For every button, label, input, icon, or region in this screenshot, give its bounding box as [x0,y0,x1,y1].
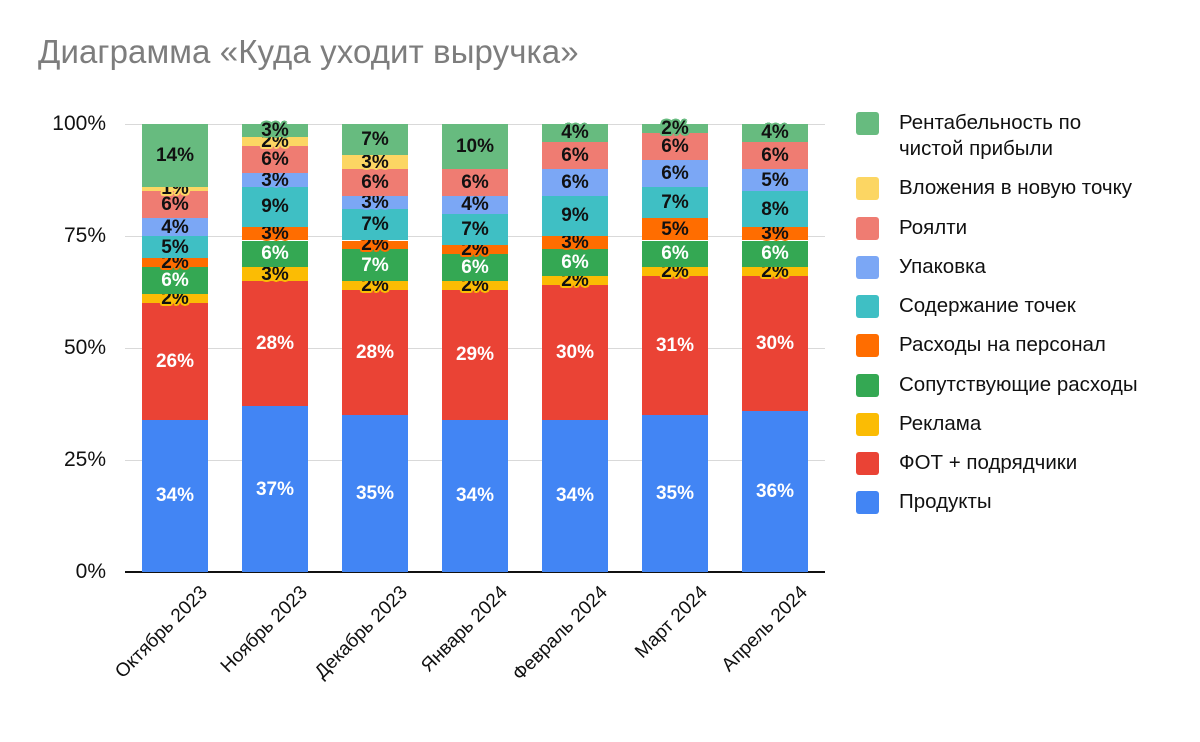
bar-segment-value-label: 6% [661,137,688,156]
bar-segment-value-label: 4% [461,195,488,214]
bar-segment[interactable]: 5% [142,236,208,258]
bar-segment-value-label: 34% [156,486,194,505]
bar-segment[interactable]: 30% [542,285,608,419]
legend-color-swatch [856,256,879,279]
bar-segment-value-label: 14% [156,146,194,165]
legend-label: Упаковка [899,254,986,280]
bar-segment[interactable]: 10% [442,124,508,169]
page-title: Диаграмма «Куда уходит выручка» [38,33,579,71]
legend-label: Роялти [899,215,967,241]
bar-segment-value-label: 4% [761,123,788,142]
legend-color-swatch [856,413,879,436]
bar-segment[interactable]: 3% [742,227,808,240]
bar-segment[interactable]: 2% [142,294,208,303]
legend-label: Вложения в новую точку [899,175,1132,201]
bar-segment-value-label: 6% [561,146,588,165]
chart-container: Диаграмма «Куда уходит выручка» 0%25%50%… [0,0,1200,742]
bar-segment[interactable]: 3% [242,267,308,280]
bar-segment[interactable]: 6% [242,241,308,268]
bar-segment[interactable]: 5% [642,218,708,240]
legend: Рентабельность по чистой прибылиВложения… [856,110,1196,529]
y-axis-tick-label: 100% [52,112,106,136]
legend-color-swatch [856,374,879,397]
legend-item[interactable]: Сопутствующие расходы [856,372,1196,398]
bar-segment[interactable]: 6% [542,249,608,276]
bar-segment[interactable]: 6% [642,241,708,268]
bar-segment[interactable]: 31% [642,276,708,415]
bar-segment-value-label: 6% [661,244,688,263]
bar-stack: 34%26%2%6%2%5%4%6%1%14% [142,124,208,572]
bar-segment[interactable]: 3% [342,196,408,209]
bar-segment[interactable]: 3% [242,124,308,137]
bar-segment-value-label: 6% [761,244,788,263]
bar-segment[interactable]: 2% [442,281,508,290]
y-axis-tick-label: 50% [64,336,106,360]
bar-segment[interactable]: 2% [642,267,708,276]
bar-segment[interactable]: 2% [342,281,408,290]
bar-segment[interactable]: 6% [742,142,808,169]
legend-label: ФОТ + подрядчики [899,450,1077,476]
bar-segment-value-label: 3% [761,224,788,243]
bar-segment[interactable]: 4% [142,218,208,236]
bar-segment[interactable]: 7% [642,187,708,218]
legend-item[interactable]: Рентабельность по чистой прибыли [856,110,1196,162]
legend-label: Рентабельность по чистой прибыли [899,110,1149,162]
bar-segment-value-label: 7% [361,130,388,149]
x-axis-labels: Октябрь 2023Ноябрь 2023Декабрь 2023Январ… [125,576,825,716]
bar-segment-value-label: 7% [461,220,488,239]
legend-color-swatch [856,295,879,318]
bar-segment-value-label: 6% [661,164,688,183]
y-axis-labels: 0%25%50%75%100% [0,124,118,572]
legend-label: Сопутствующие расходы [899,372,1138,398]
bar-segment-value-label: 28% [356,343,394,362]
bar-segment[interactable]: 14% [142,124,208,187]
bar-segment[interactable]: 9% [242,187,308,227]
bar-segment-value-label: 9% [561,206,588,225]
bar-segment-value-label: 8% [761,200,788,219]
bar-segment[interactable]: 4% [542,124,608,142]
bar-segment[interactable]: 28% [242,281,308,406]
bar-segment-value-label: 5% [161,238,188,257]
bar-segment[interactable]: 6% [342,169,408,196]
legend-item[interactable]: Расходы на персонал [856,332,1196,358]
bar-segment-value-label: 6% [461,173,488,192]
legend-item[interactable]: Вложения в новую точку [856,175,1196,201]
bar-segment-value-label: 6% [161,271,188,290]
bar-segment[interactable]: 2% [342,241,408,250]
bar-segment[interactable]: 30% [742,276,808,410]
bar-segment-value-label: 35% [356,484,394,503]
bar-segment-value-label: 3% [261,121,288,140]
bar-segment-value-label: 6% [561,253,588,272]
bar-segment[interactable]: 2% [742,267,808,276]
legend-item[interactable]: Роялти [856,215,1196,241]
legend-item[interactable]: Продукты [856,489,1196,515]
bar-segment-value-label: 31% [656,336,694,355]
bar-segment-value-label: 28% [256,334,294,353]
bar-segment[interactable]: 34% [142,420,208,572]
bar-segment[interactable]: 6% [542,142,608,169]
bar-segment[interactable]: 2% [642,124,708,133]
bar-segment-value-label: 5% [761,171,788,190]
bar-segment-value-label: 29% [456,345,494,364]
bar-segment[interactable]: 2% [542,276,608,285]
bar-segment-value-label: 10% [456,137,494,156]
y-axis-tick-label: 0% [76,560,106,584]
bar-segment[interactable]: 8% [742,191,808,227]
y-axis-tick-label: 25% [64,448,106,472]
bar-segment[interactable]: 9% [542,196,608,236]
bar-segment-value-label: 4% [161,218,188,237]
bar-segment-value-label: 26% [156,352,194,371]
bar-stack: 36%30%2%6%3%8%5%6%4% [742,124,808,572]
bar-group[interactable]: 36%30%2%6%3%8%5%6%4% [742,124,808,572]
bar-group[interactable]: 34%26%2%6%2%5%4%6%1%14% [142,124,208,572]
bar-segment-value-label: 3% [361,193,388,212]
bar-segment[interactable]: 4% [442,196,508,214]
legend-color-swatch [856,217,879,240]
bar-segment[interactable]: 26% [142,303,208,419]
bar-segment-value-label: 3% [261,171,288,190]
bar-segment-value-label: 6% [761,146,788,165]
bar-segment[interactable]: 29% [442,290,508,420]
bar-segment-value-label: 4% [561,123,588,142]
bar-segment-value-label: 2% [661,119,688,138]
bar-segment-value-label: 37% [256,480,294,499]
bar-segment[interactable]: 3% [542,236,608,249]
bar-segment[interactable]: 3% [242,227,308,240]
bar-segment[interactable]: 3% [342,155,408,168]
bar-segment-value-label: 3% [261,265,288,284]
bar-segment[interactable]: 28% [342,290,408,415]
bar-segment[interactable]: 2% [442,245,508,254]
legend-item[interactable]: Реклама [856,411,1196,437]
legend-color-swatch [856,177,879,200]
bar-segment[interactable]: 6% [742,241,808,268]
bar-segment-value-label: 6% [561,173,588,192]
bar-segment-value-label: 3% [261,224,288,243]
legend-color-swatch [856,452,879,475]
legend-color-swatch [856,491,879,514]
bar-segment-value-label: 30% [556,343,594,362]
bar-segment[interactable]: 6% [442,169,508,196]
legend-label: Продукты [899,489,992,515]
bar-segment[interactable]: 2% [142,258,208,267]
bar-segment[interactable]: 7% [342,124,408,155]
bar-segment-value-label: 7% [661,193,688,212]
legend-label: Расходы на персонал [899,332,1106,358]
bar-segment[interactable]: 7% [442,214,508,245]
bar-segment-value-label: 9% [261,197,288,216]
bar-segment[interactable]: 5% [742,169,808,191]
bar-segment[interactable]: 1% [142,187,208,191]
legend-color-swatch [856,334,879,357]
bar-segment[interactable]: 7% [342,209,408,240]
bar-segment-value-label: 5% [661,220,688,239]
bar-segment-value-label: 6% [461,258,488,277]
legend-item[interactable]: Упаковка [856,254,1196,280]
bar-segment-value-label: 6% [261,150,288,169]
bar-segment-value-label: 7% [361,256,388,275]
legend-color-swatch [856,112,879,135]
bar-segment-value-label: 7% [361,215,388,234]
bar-segment-value-label: 36% [756,482,794,501]
bar-segment-value-label: 30% [756,334,794,353]
bar-segment-value-label: 3% [361,153,388,172]
y-axis-tick-label: 75% [64,224,106,248]
legend-item[interactable]: Содержание точек [856,293,1196,319]
legend-label: Содержание точек [899,293,1076,319]
bar-segment[interactable]: 6% [642,160,708,187]
legend-label: Реклама [899,411,981,437]
bar-segment[interactable]: 4% [742,124,808,142]
bar-segment[interactable]: 6% [542,169,608,196]
bar-segment-value-label: 3% [561,233,588,252]
bar-segment[interactable]: 3% [242,173,308,186]
legend-item[interactable]: ФОТ + подрядчики [856,450,1196,476]
bar-segment-value-label: 6% [261,244,288,263]
bar-segment-value-label: 6% [361,173,388,192]
